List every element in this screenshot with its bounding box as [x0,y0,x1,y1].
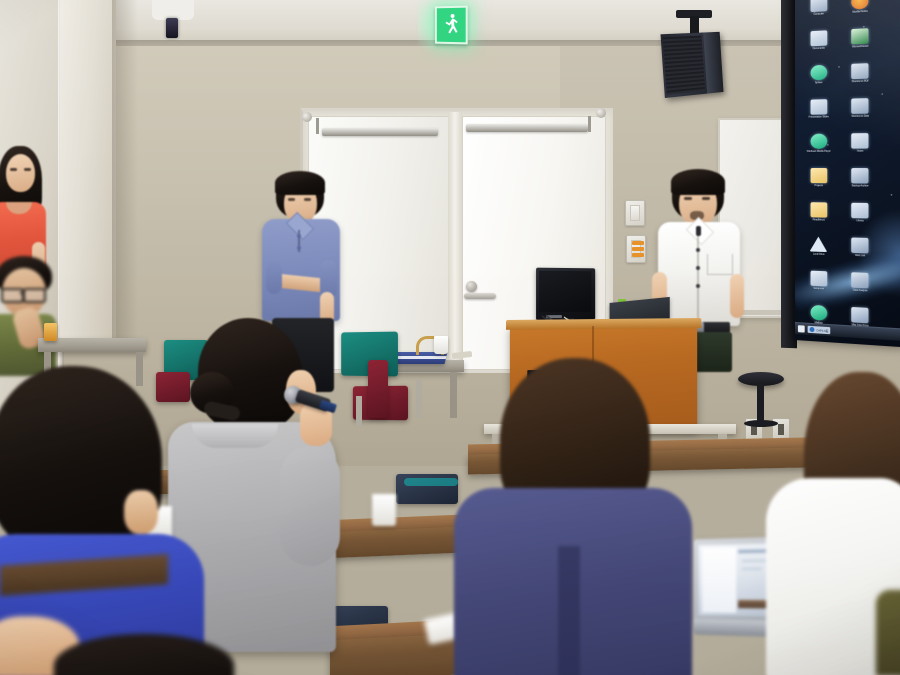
excel-icon-glyph [851,28,868,44]
projector-control-plate[interactable] [626,235,646,263]
presenter-right-button-2 [696,266,700,270]
presentation-icon-glyph [810,99,827,115]
indicator-led-2 [632,247,644,251]
closer-arm-right [588,116,591,132]
chair-leg-1 [416,380,422,418]
presenter-right-fringe [671,169,725,195]
presenter-left-button-2 [297,246,301,250]
archive-icon[interactable]: Backup Archive [842,168,879,199]
presenter-right-chest-pocket [707,254,733,275]
presenter-right-button-3 [696,284,700,288]
door-closer-left [322,128,438,136]
woman-left-head [6,154,35,192]
ceiling-speaker-icon [660,32,723,98]
ime-indicator[interactable]: CAPS A般 [808,326,831,334]
laptop-screen-document-pane [702,547,736,613]
excel-icon[interactable]: Microsoft Excel [842,28,879,60]
desktop-monitor[interactable] [536,268,595,321]
folder-icon-1-label: Projects [801,184,837,188]
sphere-app-icon-label: Sphere [801,81,837,86]
presenter-left-fringe [275,171,325,195]
emergency-exit-sign-icon [435,6,468,45]
installer-icon-label: Setup.exe [801,286,837,291]
glasses-lens-right [23,288,46,303]
indicator-led-3 [632,253,644,257]
folder-icon-1-glyph [810,168,827,183]
presenter-right-eye-right [702,197,710,200]
firefox-icon-label: Mozilla Firefox [842,9,879,15]
drive-icon-glyph [810,236,828,252]
presenter-left-sleeve-left [266,262,282,294]
sphere-app-icon-glyph [810,65,827,81]
link-icon-1[interactable]: Web Link [842,237,879,269]
glasses-bridge [20,292,24,294]
ceiling-sensor-base [152,0,194,20]
running-person-glyph [445,13,458,36]
link-icon-2[interactable]: Data Analysis [842,272,879,304]
link-icon-1-glyph [851,238,868,254]
desktop-icon-grid: ComputerMozilla FirefoxDocumentsMicrosof… [801,0,879,339]
closer-arm-left [316,118,319,134]
library-icon[interactable]: Library [842,203,879,234]
presenter-right-arm-right [730,274,744,318]
archive-icon-label: Backup Archive [842,184,879,188]
shortcut-icon-1-glyph [851,63,868,79]
monitor-screen [539,271,591,312]
seminar-room-photo: ComputerMozilla FirefoxDocumentsMicrosof… [0,0,900,675]
start-button-icon[interactable] [798,325,805,332]
installer-icon-glyph [810,271,827,287]
canned-drink [44,323,57,341]
installer-icon[interactable]: Setup.exe [801,270,837,302]
shortcut-icon-2[interactable]: Shortcut to Data [842,98,879,129]
shortcut-icon-1-label: Shortcut to PDF [842,79,879,84]
sphere-app-icon[interactable]: Sphere [801,64,837,95]
computer-icon-label: Computer [801,12,837,18]
text-file-icon-glyph [810,202,827,217]
drive-icon[interactable]: Local Drive [801,236,837,267]
door-lever-handle[interactable] [464,293,496,299]
link-icon-2-glyph [851,272,868,288]
speaker-grille [663,36,705,95]
link-icon-2-label: Data Analysis [842,288,879,293]
door-closer-right [466,124,588,132]
presenter-right-eye-left [684,197,692,200]
door-gap [448,112,462,368]
light-switch-rocker[interactable] [630,205,640,221]
chair-red-back-1[interactable] [368,360,388,418]
paper-cup-table [434,336,448,354]
drive-icon-label: Local Drive [801,252,837,257]
presentation-icon[interactable]: Presentation Slides [801,99,837,130]
text-file-icon-label: ReadMe.txt [801,218,837,222]
link-icon-1-label: Web Link [842,254,879,259]
computer-icon[interactable]: Computer [801,0,837,28]
shortcut-icon-2-glyph [851,98,868,114]
ceiling-sensor-icon [166,18,178,38]
presenter-left-eye-left [288,198,295,201]
media-player-icon[interactable]: Windows Media Player [801,133,837,164]
library-icon-glyph [851,203,868,219]
person-attendee-indigo-shirt [448,358,698,675]
notes-icon[interactable]: Notes [842,133,879,164]
text-file-icon[interactable]: ReadMe.txt [801,202,837,233]
presenter-right-button-1 [696,248,700,252]
notes-icon-glyph [851,133,868,149]
shortcut-icon-2-label: Shortcut to Data [842,114,879,118]
mic-woman-arm-right [280,446,340,566]
woman-left-eye-right [24,168,31,171]
presenter-left-eye-right [304,198,311,201]
blue-attendee-ear-cheek [124,490,158,534]
glasses-lens-left [1,288,24,303]
person-man-glasses-left [0,256,84,376]
pillar-shadow [112,0,138,340]
archive-icon-glyph [851,168,868,183]
closer-hinge-right [596,108,606,118]
light-switch-plate[interactable] [625,200,645,226]
ime-icon [810,327,815,332]
lectern-worktop [506,318,701,330]
presenter-left-button-1 [297,234,301,238]
paper-cup-front-1 [372,494,396,526]
firefox-icon-glyph [851,0,868,10]
presentation-icon-label: Presentation Slides [801,115,837,119]
media-player-icon-label: Windows Media Player [801,150,837,154]
documents-folder-icon[interactable]: Documents [801,30,837,62]
computer-icon-glyph [810,0,827,12]
firefox-icon[interactable]: Mozilla Firefox [842,0,879,26]
shortcut-icon-1[interactable]: Shortcut to PDF [842,63,879,95]
notes-icon-label: Notes [842,149,879,153]
attendee-olive-sleeve-edge [876,590,900,675]
projection-screen[interactable]: ComputerMozilla FirefoxDocumentsMicrosof… [795,0,900,348]
indicator-led-1 [632,241,644,245]
indigo-attendee-back-seam [558,546,580,675]
presenter-right-collar-shadow [696,226,701,236]
link-icon-3-glyph [851,307,868,323]
library-icon-label: Library [842,219,879,223]
door-lock-knob[interactable] [466,281,477,292]
closer-hinge-left [302,112,312,122]
documents-folder-icon-label: Documents [801,46,837,51]
ime-label: CAPS A般 [816,328,828,333]
media-player-icon-glyph [810,134,827,149]
woman-left-eye-left [10,168,17,171]
folder-icon-1[interactable]: Projects [801,168,837,199]
mail-icon-glyph [810,305,827,321]
excel-icon-label: Microsoft Excel [842,44,879,49]
documents-folder-icon-glyph [810,30,827,46]
laptop-screen-line-2 [742,568,762,570]
